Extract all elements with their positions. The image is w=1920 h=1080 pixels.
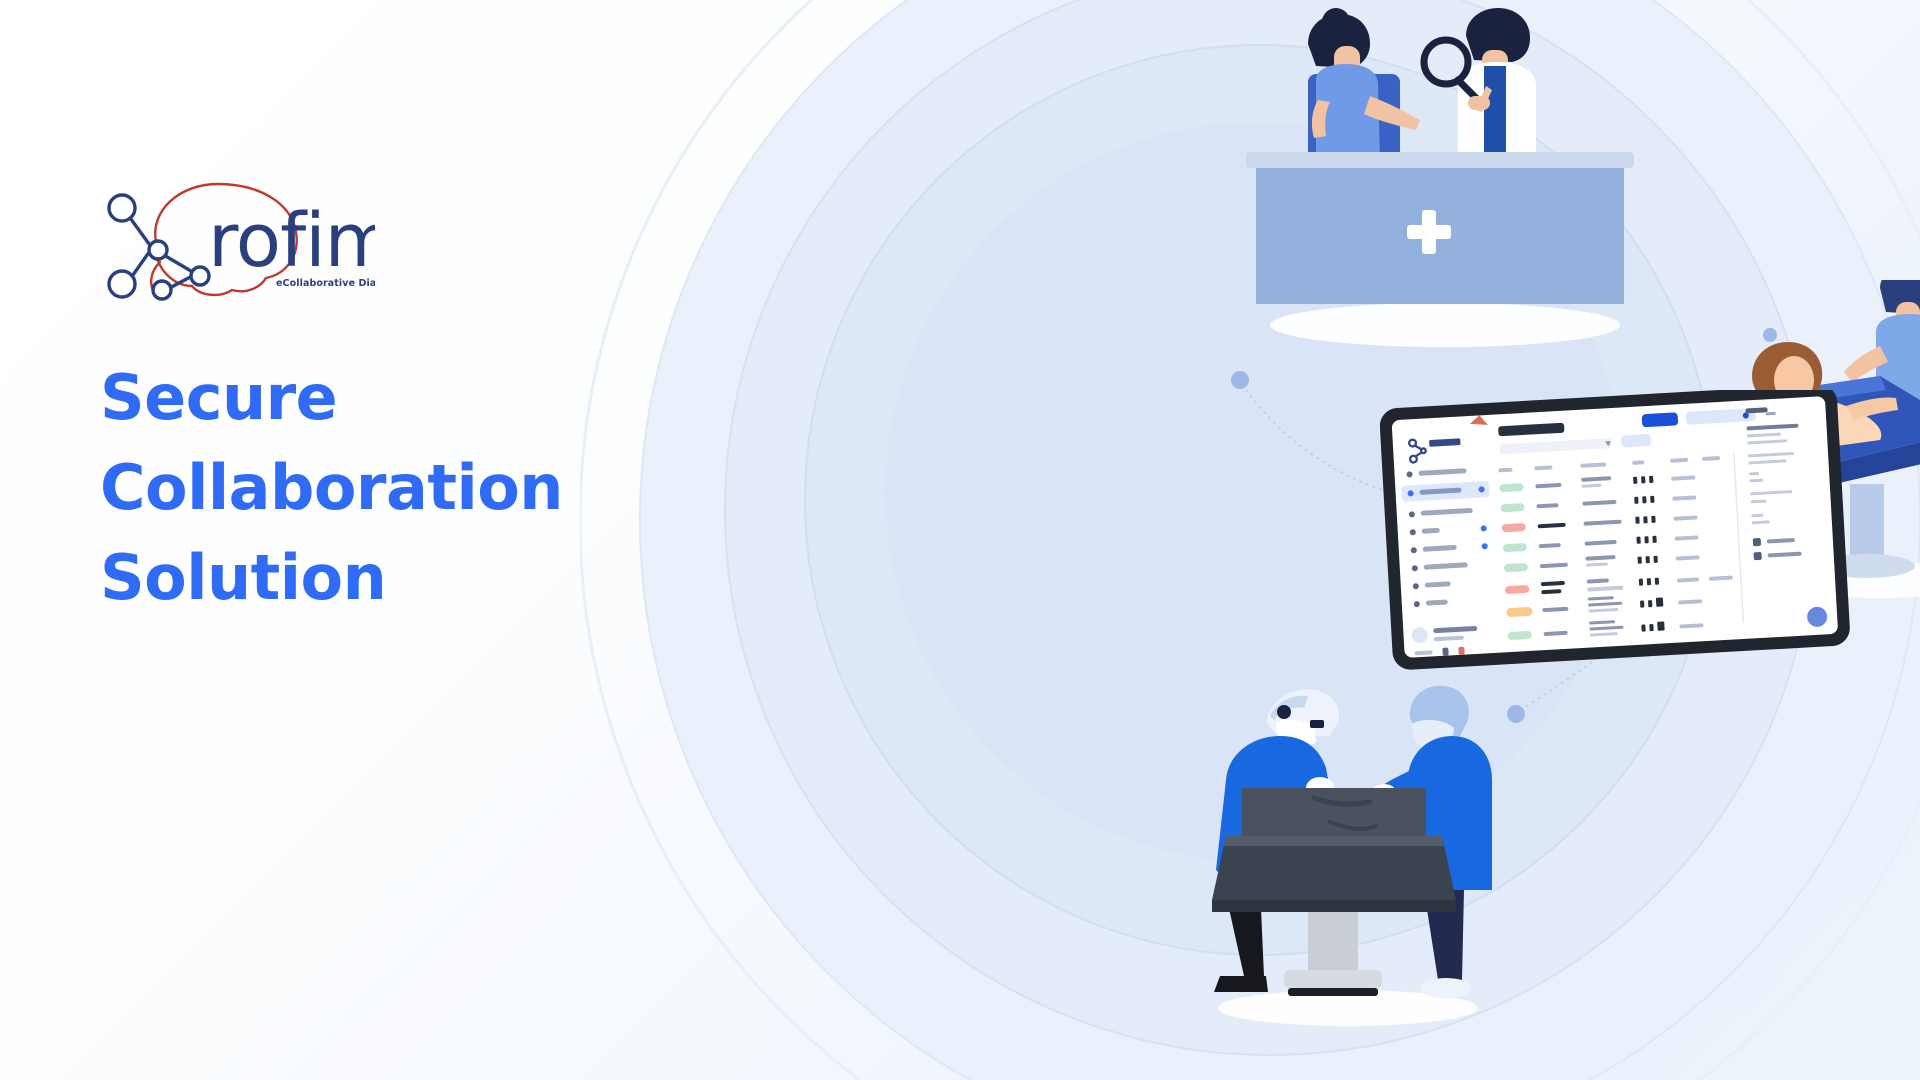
headline-line-3: Solution (100, 533, 820, 623)
headline-line-1: Secure (100, 353, 820, 443)
hero-text-column: rofim eCollaborative Diagnosis Secure Co… (100, 170, 820, 623)
brand-logo[interactable]: rofim eCollaborative Diagnosis (100, 170, 375, 305)
page-title: Secure Collaboration Solution (100, 353, 820, 623)
hero-banner: rofim eCollaborative Diagnosis Secure Co… (0, 0, 1920, 1080)
logo-wordmark: rofim (208, 198, 375, 284)
logo-tagline: eCollaborative Diagnosis (276, 278, 375, 289)
network-nodes-icon (109, 195, 209, 299)
headline-line-2: Collaboration (100, 443, 820, 533)
